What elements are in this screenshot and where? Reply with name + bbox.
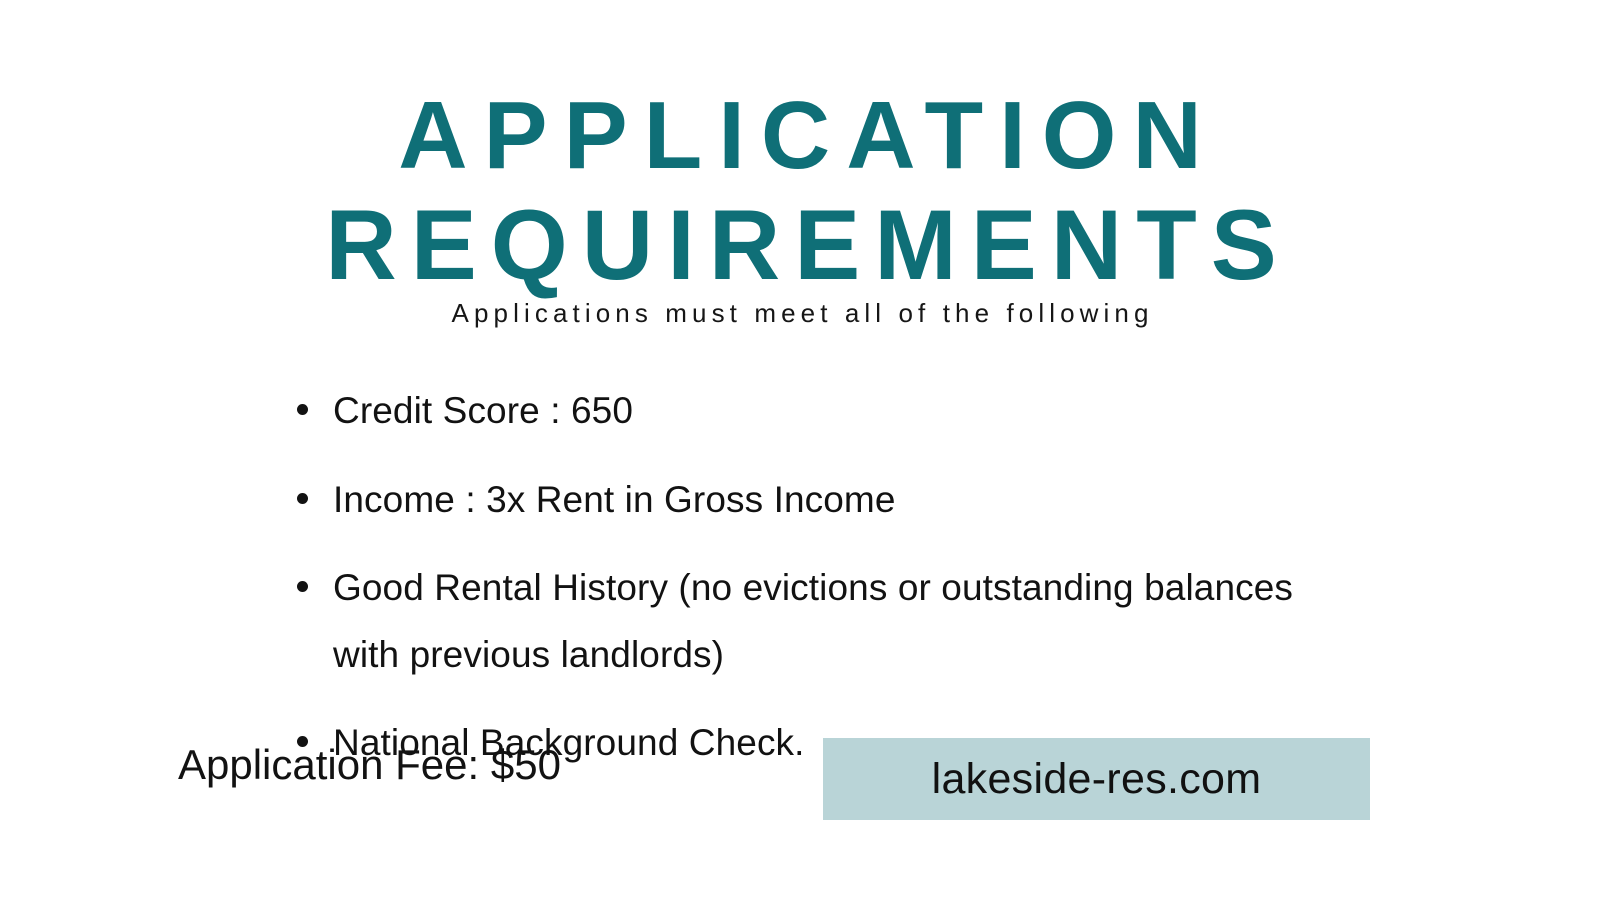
application-fee-label: Application Fee: $50 xyxy=(178,744,561,786)
page-title: APPLICATION REQUIREMENTS xyxy=(0,82,1600,300)
website-url-text: lakeside-res.com xyxy=(932,758,1262,801)
page-title-line-2: REQUIREMENTS xyxy=(0,190,1600,301)
bullet-point-icon xyxy=(297,581,308,592)
list-item: Income : 3x Rent in Gross Income xyxy=(292,467,1322,534)
bullet-point-icon xyxy=(297,404,308,415)
page-title-line-1: APPLICATION xyxy=(0,82,1600,190)
application-requirements-poster: APPLICATION REQUIREMENTS Applications mu… xyxy=(0,0,1600,900)
bullet-point-icon xyxy=(297,493,308,504)
requirement-text: Credit Score : 650 xyxy=(333,390,633,431)
list-item: Credit Score : 650 xyxy=(292,378,1322,445)
requirement-text: Good Rental History (no evictions or out… xyxy=(333,567,1293,675)
requirement-text: Income : 3x Rent in Gross Income xyxy=(333,479,896,520)
list-item: Good Rental History (no evictions or out… xyxy=(292,555,1322,688)
page-subtitle: Applications must meet all of the follow… xyxy=(0,298,1600,329)
requirements-list: Credit Score : 650 Income : 3x Rent in G… xyxy=(292,378,1322,777)
website-badge[interactable]: lakeside-res.com xyxy=(823,738,1370,820)
